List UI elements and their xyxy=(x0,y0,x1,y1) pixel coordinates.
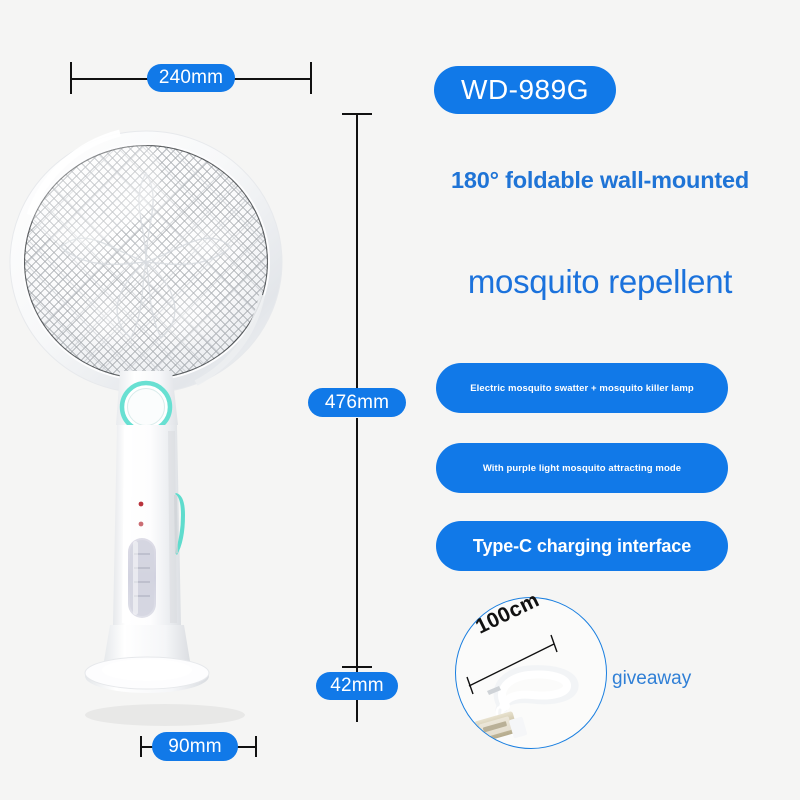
dimension-label-42mm: 42mm xyxy=(316,672,398,700)
feature-pill-2: With purple light mosquito attracting mo… xyxy=(436,443,728,493)
dimension-tick-top-476 xyxy=(342,113,372,115)
infographic-canvas: 240mm 476mm 42mm 90mm WD-989G 180° folda… xyxy=(0,0,800,800)
giveaway-label: giveaway xyxy=(612,668,691,690)
cable-dimension-line xyxy=(467,635,557,694)
dimension-label-240mm: 240mm xyxy=(147,64,235,92)
feature-pill-1: Electric mosquito swatter + mosquito kil… xyxy=(436,363,728,413)
product-image xyxy=(0,95,330,755)
dimension-line-42-lower xyxy=(356,700,358,722)
feature-pill-3: Type-C charging interface xyxy=(436,521,728,571)
model-badge: WD-989G xyxy=(434,66,616,114)
dimension-line-476-lower xyxy=(356,418,358,673)
dimension-line-476-upper xyxy=(356,113,358,388)
feature-label-3: Type-C charging interface xyxy=(473,536,691,557)
dimension-tick-42-upper xyxy=(342,666,372,668)
dimension-tick-left-240 xyxy=(70,62,72,94)
dimension-value-90mm: 90mm xyxy=(168,736,222,758)
dimension-value-476mm: 476mm xyxy=(325,392,389,414)
usb-connector xyxy=(474,711,528,743)
dimension-tick-right-90 xyxy=(255,736,257,757)
feature-label-1: Electric mosquito swatter + mosquito kil… xyxy=(470,383,694,394)
dimension-tick-left-90 xyxy=(140,736,142,757)
dimension-value-240mm: 240mm xyxy=(159,67,223,89)
dimension-label-90mm: 90mm xyxy=(152,732,238,761)
subheadline: 180° foldable wall-mounted xyxy=(424,167,776,194)
headline: mosquito repellent xyxy=(414,263,786,301)
dimension-tick-right-240 xyxy=(310,62,312,94)
dimension-label-476mm: 476mm xyxy=(308,388,406,417)
dimension-value-42mm: 42mm xyxy=(330,675,384,697)
feature-label-2: With purple light mosquito attracting mo… xyxy=(483,463,681,474)
model-name: WD-989G xyxy=(461,74,589,106)
